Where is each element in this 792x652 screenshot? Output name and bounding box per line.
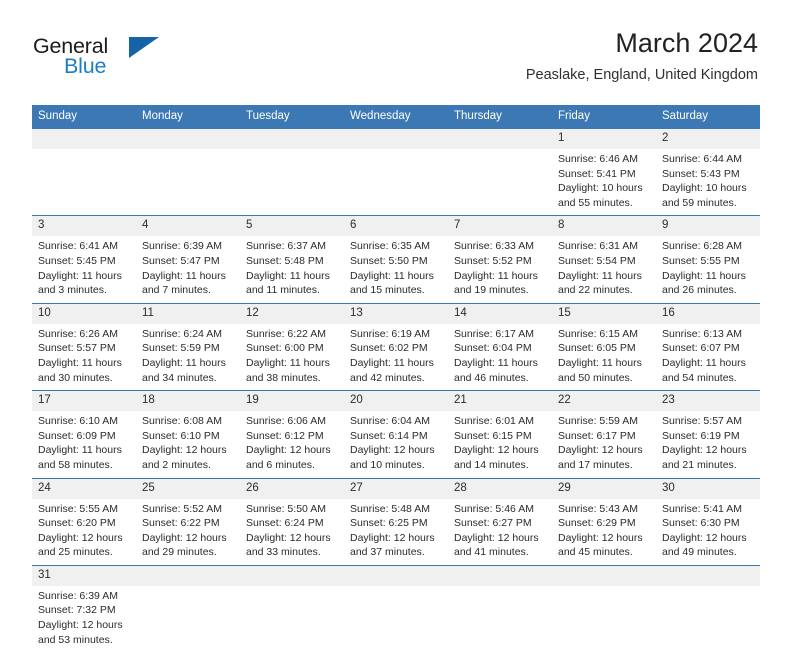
daylight-text-1: Daylight: 11 hours xyxy=(38,443,131,458)
day-number: 23 xyxy=(656,391,760,411)
day-number: 18 xyxy=(136,391,240,411)
day-cell[interactable]: 20 Sunrise: 6:04 AM Sunset: 6:14 PM Dayl… xyxy=(344,391,448,478)
day-cell[interactable]: 24 Sunrise: 5:55 AM Sunset: 6:20 PM Dayl… xyxy=(32,478,136,565)
day-cell[interactable] xyxy=(240,565,344,652)
calendar-week-row: 17 Sunrise: 6:10 AM Sunset: 6:09 PM Dayl… xyxy=(32,391,760,478)
sunrise-text: Sunrise: 6:39 AM xyxy=(38,589,131,604)
weekday-header-saturday: Saturday xyxy=(656,105,760,129)
sunrise-text: Sunrise: 6:44 AM xyxy=(662,152,755,167)
sunrise-text: Sunrise: 6:28 AM xyxy=(662,239,755,254)
day-number: 25 xyxy=(136,479,240,499)
day-details: Sunrise: 5:59 AM Sunset: 6:17 PM Dayligh… xyxy=(552,411,656,477)
day-cell[interactable] xyxy=(448,565,552,652)
daylight-text-2: and 22 minutes. xyxy=(558,283,651,298)
daylight-text-2: and 58 minutes. xyxy=(38,458,131,473)
daylight-text-2: and 19 minutes. xyxy=(454,283,547,298)
daylight-text-1: Daylight: 12 hours xyxy=(558,443,651,458)
sunrise-text: Sunrise: 6:33 AM xyxy=(454,239,547,254)
day-number: 12 xyxy=(240,304,344,324)
daylight-text-2: and 25 minutes. xyxy=(38,545,131,560)
day-cell[interactable]: 31 Sunrise: 6:39 AM Sunset: 7:32 PM Dayl… xyxy=(32,565,136,652)
daylight-text-2: and 50 minutes. xyxy=(558,371,651,386)
calendar-week-row: 10 Sunrise: 6:26 AM Sunset: 5:57 PM Dayl… xyxy=(32,303,760,390)
sunset-text: Sunset: 5:41 PM xyxy=(558,167,651,182)
page-title: March 2024 xyxy=(526,27,758,59)
daylight-text-1: Daylight: 12 hours xyxy=(142,443,235,458)
day-number: 28 xyxy=(448,479,552,499)
sunrise-text: Sunrise: 5:50 AM xyxy=(246,502,339,517)
sunrise-text: Sunrise: 5:41 AM xyxy=(662,502,755,517)
sunset-text: Sunset: 6:09 PM xyxy=(38,429,131,444)
brand-logo[interactable]: General Blue xyxy=(33,34,213,86)
day-cell[interactable] xyxy=(136,565,240,652)
weekday-header-tuesday: Tuesday xyxy=(240,105,344,129)
day-details: Sunrise: 6:15 AM Sunset: 6:05 PM Dayligh… xyxy=(552,324,656,390)
day-details: Sunrise: 5:52 AM Sunset: 6:22 PM Dayligh… xyxy=(136,499,240,565)
sunrise-text: Sunrise: 6:35 AM xyxy=(350,239,443,254)
sunset-text: Sunset: 5:50 PM xyxy=(350,254,443,269)
daylight-text-1: Daylight: 12 hours xyxy=(38,531,131,546)
sunset-text: Sunset: 5:52 PM xyxy=(454,254,547,269)
day-number xyxy=(32,129,136,149)
sunset-text: Sunset: 5:47 PM xyxy=(142,254,235,269)
daylight-text-1: Daylight: 12 hours xyxy=(350,531,443,546)
day-cell[interactable]: 22 Sunrise: 5:59 AM Sunset: 6:17 PM Dayl… xyxy=(552,391,656,478)
daylight-text-1: Daylight: 11 hours xyxy=(142,269,235,284)
day-number: 24 xyxy=(32,479,136,499)
day-details: Sunrise: 6:31 AM Sunset: 5:54 PM Dayligh… xyxy=(552,236,656,302)
daylight-text-1: Daylight: 11 hours xyxy=(38,356,131,371)
day-cell[interactable] xyxy=(136,129,240,216)
day-cell[interactable]: 15 Sunrise: 6:15 AM Sunset: 6:05 PM Dayl… xyxy=(552,303,656,390)
sunrise-text: Sunrise: 6:08 AM xyxy=(142,414,235,429)
day-details: Sunrise: 6:06 AM Sunset: 6:12 PM Dayligh… xyxy=(240,411,344,477)
day-details: Sunrise: 6:35 AM Sunset: 5:50 PM Dayligh… xyxy=(344,236,448,302)
daylight-text-2: and 42 minutes. xyxy=(350,371,443,386)
calendar-week-row: 3 Sunrise: 6:41 AM Sunset: 5:45 PM Dayli… xyxy=(32,216,760,303)
sunrise-text: Sunrise: 6:22 AM xyxy=(246,327,339,342)
day-cell[interactable]: 25 Sunrise: 5:52 AM Sunset: 6:22 PM Dayl… xyxy=(136,478,240,565)
day-details xyxy=(136,586,240,652)
daylight-text-2: and 17 minutes. xyxy=(558,458,651,473)
daylight-text-2: and 45 minutes. xyxy=(558,545,651,560)
sunrise-text: Sunrise: 6:17 AM xyxy=(454,327,547,342)
day-cell[interactable]: 12 Sunrise: 6:22 AM Sunset: 6:00 PM Dayl… xyxy=(240,303,344,390)
daylight-text-2: and 55 minutes. xyxy=(558,196,651,211)
day-details: Sunrise: 5:48 AM Sunset: 6:25 PM Dayligh… xyxy=(344,499,448,565)
triangle-flag-icon xyxy=(129,37,159,58)
day-cell[interactable]: 2 Sunrise: 6:44 AM Sunset: 5:43 PM Dayli… xyxy=(656,129,760,216)
day-cell[interactable]: 19 Sunrise: 6:06 AM Sunset: 6:12 PM Dayl… xyxy=(240,391,344,478)
sunset-text: Sunset: 5:43 PM xyxy=(662,167,755,182)
daylight-text-2: and 34 minutes. xyxy=(142,371,235,386)
day-details: Sunrise: 5:43 AM Sunset: 6:29 PM Dayligh… xyxy=(552,499,656,565)
sunrise-text: Sunrise: 5:52 AM xyxy=(142,502,235,517)
daylight-text-2: and 37 minutes. xyxy=(350,545,443,560)
calendar-week-row: 31 Sunrise: 6:39 AM Sunset: 7:32 PM Dayl… xyxy=(32,565,760,652)
weekday-header-monday: Monday xyxy=(136,105,240,129)
daylight-text-2: and 49 minutes. xyxy=(662,545,755,560)
day-details xyxy=(448,149,552,215)
day-details xyxy=(240,149,344,215)
sunset-text: Sunset: 6:12 PM xyxy=(246,429,339,444)
title-block: March 2024 Peaslake, England, United Kin… xyxy=(526,27,758,85)
sunrise-text: Sunrise: 6:10 AM xyxy=(38,414,131,429)
daylight-text-2: and 33 minutes. xyxy=(246,545,339,560)
daylight-text-1: Daylight: 12 hours xyxy=(350,443,443,458)
day-cell[interactable] xyxy=(552,565,656,652)
day-number: 21 xyxy=(448,391,552,411)
day-details: Sunrise: 6:26 AM Sunset: 5:57 PM Dayligh… xyxy=(32,324,136,390)
day-cell[interactable]: 8 Sunrise: 6:31 AM Sunset: 5:54 PM Dayli… xyxy=(552,216,656,303)
day-details: Sunrise: 6:46 AM Sunset: 5:41 PM Dayligh… xyxy=(552,149,656,215)
day-details: Sunrise: 6:24 AM Sunset: 5:59 PM Dayligh… xyxy=(136,324,240,390)
day-details xyxy=(552,586,656,652)
day-number: 13 xyxy=(344,304,448,324)
day-number: 4 xyxy=(136,216,240,236)
sunset-text: Sunset: 6:25 PM xyxy=(350,516,443,531)
sunrise-text: Sunrise: 5:48 AM xyxy=(350,502,443,517)
daylight-text-2: and 6 minutes. xyxy=(246,458,339,473)
day-details: Sunrise: 6:10 AM Sunset: 6:09 PM Dayligh… xyxy=(32,411,136,477)
sunrise-text: Sunrise: 6:06 AM xyxy=(246,414,339,429)
day-details: Sunrise: 6:33 AM Sunset: 5:52 PM Dayligh… xyxy=(448,236,552,302)
daylight-text-1: Daylight: 11 hours xyxy=(662,269,755,284)
day-number xyxy=(136,566,240,586)
day-cell[interactable] xyxy=(240,129,344,216)
day-details xyxy=(240,586,344,652)
daylight-text-1: Daylight: 11 hours xyxy=(558,356,651,371)
sunset-text: Sunset: 6:04 PM xyxy=(454,341,547,356)
sunrise-text: Sunrise: 5:43 AM xyxy=(558,502,651,517)
daylight-text-2: and 2 minutes. xyxy=(142,458,235,473)
day-number: 9 xyxy=(656,216,760,236)
sunset-text: Sunset: 6:22 PM xyxy=(142,516,235,531)
day-number xyxy=(552,566,656,586)
daylight-text-2: and 30 minutes. xyxy=(38,371,131,386)
day-number: 31 xyxy=(32,566,136,586)
daylight-text-1: Daylight: 11 hours xyxy=(246,356,339,371)
sunrise-text: Sunrise: 6:19 AM xyxy=(350,327,443,342)
day-number xyxy=(448,566,552,586)
day-details: Sunrise: 6:22 AM Sunset: 6:00 PM Dayligh… xyxy=(240,324,344,390)
day-cell[interactable]: 16 Sunrise: 6:13 AM Sunset: 6:07 PM Dayl… xyxy=(656,303,760,390)
day-cell[interactable] xyxy=(656,565,760,652)
day-cell[interactable]: 14 Sunrise: 6:17 AM Sunset: 6:04 PM Dayl… xyxy=(448,303,552,390)
daylight-text-1: Daylight: 12 hours xyxy=(662,443,755,458)
day-cell[interactable] xyxy=(344,565,448,652)
day-cell[interactable]: 4 Sunrise: 6:39 AM Sunset: 5:47 PM Dayli… xyxy=(136,216,240,303)
calendar-body: 1 Sunrise: 6:46 AM Sunset: 5:41 PM Dayli… xyxy=(32,129,760,652)
day-number: 20 xyxy=(344,391,448,411)
daylight-text-1: Daylight: 12 hours xyxy=(454,443,547,458)
day-details xyxy=(344,586,448,652)
day-number xyxy=(240,566,344,586)
daylight-text-2: and 26 minutes. xyxy=(662,283,755,298)
sunset-text: Sunset: 6:29 PM xyxy=(558,516,651,531)
daylight-text-2: and 29 minutes. xyxy=(142,545,235,560)
sunrise-text: Sunrise: 6:24 AM xyxy=(142,327,235,342)
page-subtitle: Peaslake, England, United Kingdom xyxy=(526,65,758,85)
daylight-text-1: Daylight: 11 hours xyxy=(350,356,443,371)
daylight-text-2: and 54 minutes. xyxy=(662,371,755,386)
day-cell[interactable]: 11 Sunrise: 6:24 AM Sunset: 5:59 PM Dayl… xyxy=(136,303,240,390)
day-cell[interactable]: 28 Sunrise: 5:46 AM Sunset: 6:27 PM Dayl… xyxy=(448,478,552,565)
day-details: Sunrise: 6:39 AM Sunset: 7:32 PM Dayligh… xyxy=(32,586,136,652)
day-cell[interactable]: 1 Sunrise: 6:46 AM Sunset: 5:41 PM Dayli… xyxy=(552,129,656,216)
day-number: 15 xyxy=(552,304,656,324)
sunset-text: Sunset: 5:55 PM xyxy=(662,254,755,269)
day-details: Sunrise: 6:08 AM Sunset: 6:10 PM Dayligh… xyxy=(136,411,240,477)
day-number xyxy=(656,566,760,586)
daylight-text-1: Daylight: 11 hours xyxy=(454,356,547,371)
sunrise-text: Sunrise: 5:57 AM xyxy=(662,414,755,429)
sunrise-text: Sunrise: 6:31 AM xyxy=(558,239,651,254)
sunrise-text: Sunrise: 6:37 AM xyxy=(246,239,339,254)
day-number xyxy=(240,129,344,149)
day-cell[interactable] xyxy=(344,129,448,216)
sunrise-text: Sunrise: 6:04 AM xyxy=(350,414,443,429)
calendar-header-row: Sunday Monday Tuesday Wednesday Thursday… xyxy=(32,105,760,129)
day-details: Sunrise: 6:17 AM Sunset: 6:04 PM Dayligh… xyxy=(448,324,552,390)
daylight-text-1: Daylight: 12 hours xyxy=(142,531,235,546)
sunrise-text: Sunrise: 5:55 AM xyxy=(38,502,131,517)
day-number: 10 xyxy=(32,304,136,324)
day-details xyxy=(448,586,552,652)
sunset-text: Sunset: 5:48 PM xyxy=(246,254,339,269)
day-details: Sunrise: 5:50 AM Sunset: 6:24 PM Dayligh… xyxy=(240,499,344,565)
sunset-text: Sunset: 6:05 PM xyxy=(558,341,651,356)
day-details: Sunrise: 6:41 AM Sunset: 5:45 PM Dayligh… xyxy=(32,236,136,302)
calendar-week-row: 1 Sunrise: 6:46 AM Sunset: 5:41 PM Dayli… xyxy=(32,129,760,216)
sunset-text: Sunset: 6:14 PM xyxy=(350,429,443,444)
day-details: Sunrise: 5:46 AM Sunset: 6:27 PM Dayligh… xyxy=(448,499,552,565)
day-number: 16 xyxy=(656,304,760,324)
day-number xyxy=(344,566,448,586)
daylight-text-1: Daylight: 10 hours xyxy=(662,181,755,196)
daylight-text-2: and 14 minutes. xyxy=(454,458,547,473)
sunset-text: Sunset: 7:32 PM xyxy=(38,603,131,618)
day-details: Sunrise: 5:41 AM Sunset: 6:30 PM Dayligh… xyxy=(656,499,760,565)
day-number: 26 xyxy=(240,479,344,499)
day-cell[interactable]: 6 Sunrise: 6:35 AM Sunset: 5:50 PM Dayli… xyxy=(344,216,448,303)
day-details xyxy=(136,149,240,215)
sunset-text: Sunset: 6:20 PM xyxy=(38,516,131,531)
weekday-header-thursday: Thursday xyxy=(448,105,552,129)
day-cell[interactable]: 13 Sunrise: 6:19 AM Sunset: 6:02 PM Dayl… xyxy=(344,303,448,390)
calendar-table: Sunday Monday Tuesday Wednesday Thursday… xyxy=(32,105,760,652)
daylight-text-2: and 10 minutes. xyxy=(350,458,443,473)
day-details xyxy=(656,586,760,652)
day-number xyxy=(136,129,240,149)
sunset-text: Sunset: 6:10 PM xyxy=(142,429,235,444)
sunset-text: Sunset: 6:19 PM xyxy=(662,429,755,444)
day-details: Sunrise: 6:04 AM Sunset: 6:14 PM Dayligh… xyxy=(344,411,448,477)
day-number: 8 xyxy=(552,216,656,236)
day-number: 7 xyxy=(448,216,552,236)
day-details xyxy=(344,149,448,215)
day-cell[interactable]: 17 Sunrise: 6:10 AM Sunset: 6:09 PM Dayl… xyxy=(32,391,136,478)
day-number: 19 xyxy=(240,391,344,411)
sunrise-text: Sunrise: 6:13 AM xyxy=(662,327,755,342)
day-cell[interactable]: 23 Sunrise: 5:57 AM Sunset: 6:19 PM Dayl… xyxy=(656,391,760,478)
day-number: 30 xyxy=(656,479,760,499)
daylight-text-2: and 38 minutes. xyxy=(246,371,339,386)
day-details: Sunrise: 6:13 AM Sunset: 6:07 PM Dayligh… xyxy=(656,324,760,390)
calendar-week-row: 24 Sunrise: 5:55 AM Sunset: 6:20 PM Dayl… xyxy=(32,478,760,565)
daylight-text-1: Daylight: 10 hours xyxy=(558,181,651,196)
day-number: 27 xyxy=(344,479,448,499)
day-cell[interactable]: 7 Sunrise: 6:33 AM Sunset: 5:52 PM Dayli… xyxy=(448,216,552,303)
day-details: Sunrise: 5:55 AM Sunset: 6:20 PM Dayligh… xyxy=(32,499,136,565)
day-details: Sunrise: 6:44 AM Sunset: 5:43 PM Dayligh… xyxy=(656,149,760,215)
sunrise-text: Sunrise: 6:26 AM xyxy=(38,327,131,342)
sunset-text: Sunset: 6:17 PM xyxy=(558,429,651,444)
day-cell[interactable]: 5 Sunrise: 6:37 AM Sunset: 5:48 PM Dayli… xyxy=(240,216,344,303)
sunset-text: Sunset: 6:02 PM xyxy=(350,341,443,356)
daylight-text-1: Daylight: 12 hours xyxy=(558,531,651,546)
sunrise-text: Sunrise: 5:59 AM xyxy=(558,414,651,429)
day-cell[interactable]: 26 Sunrise: 5:50 AM Sunset: 6:24 PM Dayl… xyxy=(240,478,344,565)
daylight-text-1: Daylight: 12 hours xyxy=(454,531,547,546)
daylight-text-1: Daylight: 11 hours xyxy=(246,269,339,284)
day-number: 5 xyxy=(240,216,344,236)
sunrise-text: Sunrise: 5:46 AM xyxy=(454,502,547,517)
sunset-text: Sunset: 5:45 PM xyxy=(38,254,131,269)
day-details: Sunrise: 6:19 AM Sunset: 6:02 PM Dayligh… xyxy=(344,324,448,390)
sunset-text: Sunset: 6:15 PM xyxy=(454,429,547,444)
daylight-text-1: Daylight: 12 hours xyxy=(246,443,339,458)
day-cell[interactable]: 27 Sunrise: 5:48 AM Sunset: 6:25 PM Dayl… xyxy=(344,478,448,565)
day-number: 22 xyxy=(552,391,656,411)
day-number: 17 xyxy=(32,391,136,411)
sunset-text: Sunset: 5:54 PM xyxy=(558,254,651,269)
day-number xyxy=(344,129,448,149)
day-number: 1 xyxy=(552,129,656,149)
day-cell[interactable]: 10 Sunrise: 6:26 AM Sunset: 5:57 PM Dayl… xyxy=(32,303,136,390)
day-details: Sunrise: 6:39 AM Sunset: 5:47 PM Dayligh… xyxy=(136,236,240,302)
daylight-text-1: Daylight: 11 hours xyxy=(558,269,651,284)
day-cell[interactable]: 3 Sunrise: 6:41 AM Sunset: 5:45 PM Dayli… xyxy=(32,216,136,303)
page-header: General Blue March 2024 Peaslake, Englan… xyxy=(0,0,792,74)
weekday-header-friday: Friday xyxy=(552,105,656,129)
daylight-text-1: Daylight: 11 hours xyxy=(454,269,547,284)
day-cell[interactable]: 30 Sunrise: 5:41 AM Sunset: 6:30 PM Dayl… xyxy=(656,478,760,565)
daylight-text-2: and 41 minutes. xyxy=(454,545,547,560)
brand-name-blue: Blue xyxy=(64,55,213,77)
day-cell[interactable]: 29 Sunrise: 5:43 AM Sunset: 6:29 PM Dayl… xyxy=(552,478,656,565)
day-details: Sunrise: 6:28 AM Sunset: 5:55 PM Dayligh… xyxy=(656,236,760,302)
daylight-text-2: and 15 minutes. xyxy=(350,283,443,298)
daylight-text-2: and 3 minutes. xyxy=(38,283,131,298)
sunrise-text: Sunrise: 6:01 AM xyxy=(454,414,547,429)
day-details: Sunrise: 6:37 AM Sunset: 5:48 PM Dayligh… xyxy=(240,236,344,302)
sunset-text: Sunset: 5:57 PM xyxy=(38,341,131,356)
day-number: 6 xyxy=(344,216,448,236)
day-number: 3 xyxy=(32,216,136,236)
weekday-header-sunday: Sunday xyxy=(32,105,136,129)
sunset-text: Sunset: 6:07 PM xyxy=(662,341,755,356)
daylight-text-1: Daylight: 11 hours xyxy=(38,269,131,284)
weekday-header-wednesday: Wednesday xyxy=(344,105,448,129)
daylight-text-2: and 53 minutes. xyxy=(38,633,131,648)
day-cell[interactable]: 18 Sunrise: 6:08 AM Sunset: 6:10 PM Dayl… xyxy=(136,391,240,478)
day-number xyxy=(448,129,552,149)
daylight-text-1: Daylight: 12 hours xyxy=(38,618,131,633)
sunset-text: Sunset: 6:27 PM xyxy=(454,516,547,531)
day-number: 2 xyxy=(656,129,760,149)
daylight-text-2: and 46 minutes. xyxy=(454,371,547,386)
daylight-text-1: Daylight: 12 hours xyxy=(246,531,339,546)
day-cell[interactable]: 21 Sunrise: 6:01 AM Sunset: 6:15 PM Dayl… xyxy=(448,391,552,478)
sunrise-text: Sunrise: 6:41 AM xyxy=(38,239,131,254)
sunrise-text: Sunrise: 6:46 AM xyxy=(558,152,651,167)
daylight-text-1: Daylight: 12 hours xyxy=(662,531,755,546)
sunset-text: Sunset: 5:59 PM xyxy=(142,341,235,356)
day-details: Sunrise: 5:57 AM Sunset: 6:19 PM Dayligh… xyxy=(656,411,760,477)
day-cell[interactable] xyxy=(448,129,552,216)
day-number: 29 xyxy=(552,479,656,499)
daylight-text-1: Daylight: 11 hours xyxy=(142,356,235,371)
daylight-text-1: Daylight: 11 hours xyxy=(662,356,755,371)
daylight-text-2: and 11 minutes. xyxy=(246,283,339,298)
day-cell[interactable] xyxy=(32,129,136,216)
sunrise-text: Sunrise: 6:39 AM xyxy=(142,239,235,254)
sunset-text: Sunset: 6:24 PM xyxy=(246,516,339,531)
day-number: 11 xyxy=(136,304,240,324)
day-cell[interactable]: 9 Sunrise: 6:28 AM Sunset: 5:55 PM Dayli… xyxy=(656,216,760,303)
day-number: 14 xyxy=(448,304,552,324)
daylight-text-1: Daylight: 11 hours xyxy=(350,269,443,284)
sunset-text: Sunset: 6:30 PM xyxy=(662,516,755,531)
daylight-text-2: and 21 minutes. xyxy=(662,458,755,473)
day-details xyxy=(32,149,136,215)
sunrise-text: Sunrise: 6:15 AM xyxy=(558,327,651,342)
day-details: Sunrise: 6:01 AM Sunset: 6:15 PM Dayligh… xyxy=(448,411,552,477)
sunset-text: Sunset: 6:00 PM xyxy=(246,341,339,356)
daylight-text-2: and 59 minutes. xyxy=(662,196,755,211)
daylight-text-2: and 7 minutes. xyxy=(142,283,235,298)
